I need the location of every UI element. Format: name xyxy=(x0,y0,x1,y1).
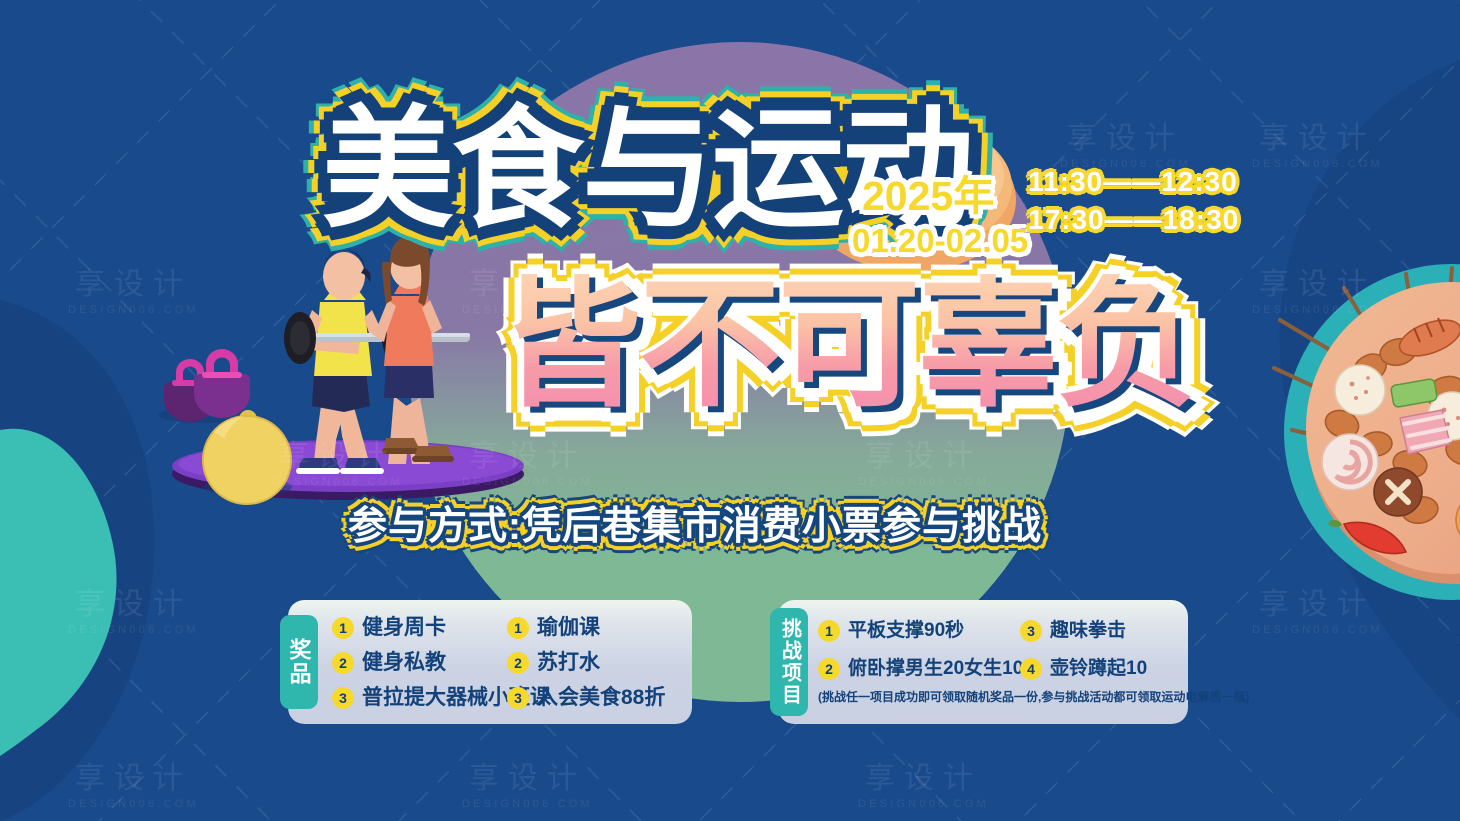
participation-subtitle: 参与方式:凭后巷集市消费小票参与挑战 xyxy=(348,504,1042,550)
challenge-footnote: (挑战任一项目成功即可领取随机奖品一份,参与挑战活动都可领取运动电解质一瓶) xyxy=(818,690,1249,704)
item-label: 趣味拳击 xyxy=(1050,620,1126,642)
item-number-badge: 3 xyxy=(332,687,354,709)
list-item: 1健身周卡 xyxy=(332,617,507,639)
event-time-slot-1: 11:30——12:30 xyxy=(1028,168,1238,196)
challenge-box: 挑战项目 1平板支撑90秒3趣味拳击2俯卧撑男生20女生104壶铃蹲起10 (挑… xyxy=(778,600,1188,724)
event-time-slot-2: 17:30——18:30 xyxy=(1028,206,1239,234)
item-label: 壶铃蹲起10 xyxy=(1050,658,1147,680)
item-number-badge: 2 xyxy=(332,652,354,674)
list-item: 2苏打水 xyxy=(507,652,688,674)
item-label: 俯卧撑男生20女生10 xyxy=(848,658,1023,680)
event-year: 2025年 xyxy=(862,176,994,217)
list-item: 2健身私教 xyxy=(332,652,507,674)
list-item: 4壶铃蹲起10 xyxy=(1020,658,1186,680)
prize-box: 奖品 1健身周卡1瑜伽课2健身私教2苏打水3普拉提大器械小班课3入会美食88折 xyxy=(288,600,692,724)
item-label: 平板支撑90秒 xyxy=(848,620,964,642)
prize-item-list: 1健身周卡1瑜伽课2健身私教2苏打水3普拉提大器械小班课3入会美食88折 xyxy=(332,610,688,715)
item-number-badge: 2 xyxy=(818,658,840,680)
item-number-badge: 3 xyxy=(507,687,529,709)
item-label: 入会美食88折 xyxy=(537,687,665,709)
item-label: 健身私教 xyxy=(362,652,446,674)
item-number-badge: 2 xyxy=(507,652,529,674)
list-item: 2俯卧撑男生20女生10 xyxy=(818,658,1020,680)
item-label: 瑜伽课 xyxy=(537,617,600,639)
item-label: 苏打水 xyxy=(537,652,600,674)
prize-box-tab-label: 奖品 xyxy=(280,615,318,709)
list-item: 3入会美食88折 xyxy=(507,687,688,709)
list-item: 3趣味拳击 xyxy=(1020,620,1186,642)
poster-canvas: 享设计DESIGN006.COM享设计DESIGN006.COM享设计DESIG… xyxy=(0,0,1460,821)
event-date-range: 01.20-02.05 xyxy=(852,224,1028,257)
challenge-item-list: 1平板支撑90秒3趣味拳击2俯卧撑男生20女生104壶铃蹲起10 xyxy=(818,612,1186,688)
challenge-box-tab-label: 挑战项目 xyxy=(770,608,808,716)
list-item: 1瑜伽课 xyxy=(507,617,688,639)
item-number-badge: 3 xyxy=(1020,620,1042,642)
item-number-badge: 1 xyxy=(332,617,354,639)
item-number-badge: 1 xyxy=(818,620,840,642)
item-number-badge: 1 xyxy=(507,617,529,639)
headline-line-2: 皆不可辜负 xyxy=(500,274,1195,416)
list-item: 1平板支撑90秒 xyxy=(818,620,1020,642)
item-number-badge: 4 xyxy=(1020,658,1042,680)
list-item: 3普拉提大器械小班课 xyxy=(332,687,507,709)
item-label: 健身周卡 xyxy=(362,617,446,639)
